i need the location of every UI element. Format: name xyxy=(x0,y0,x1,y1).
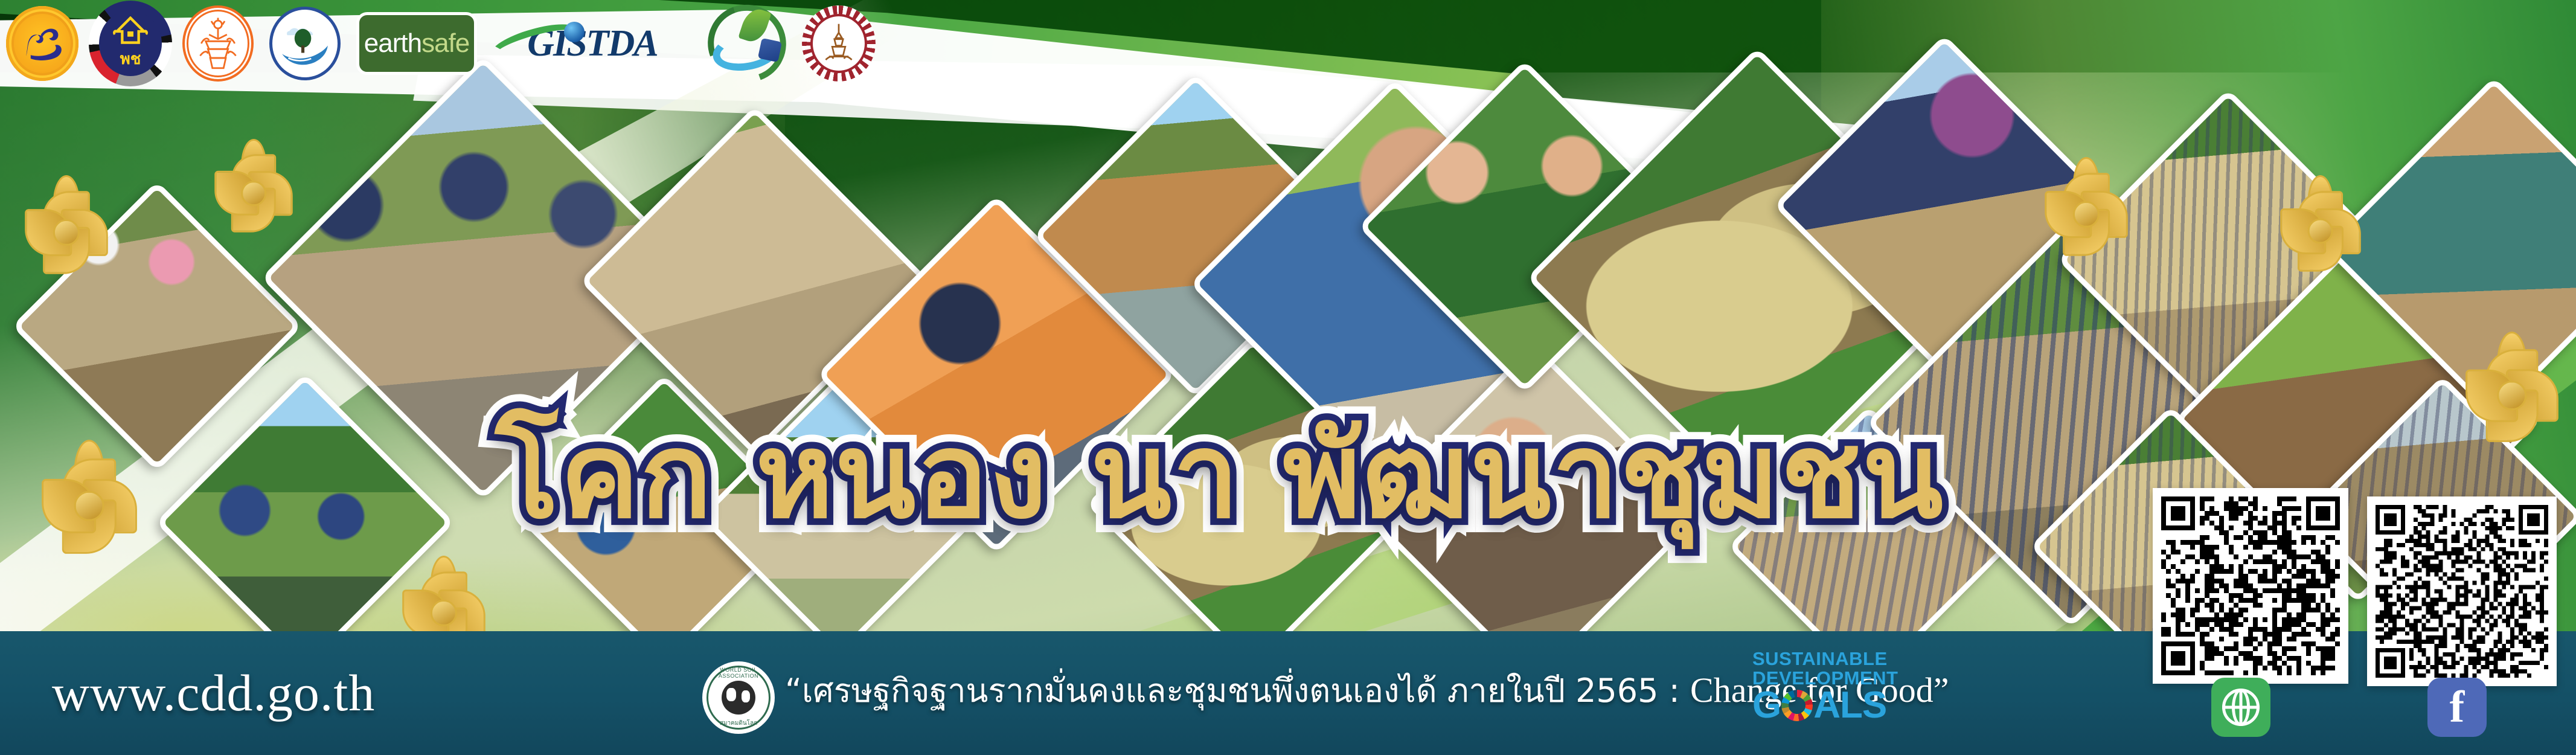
stupa-icon xyxy=(822,22,856,65)
cdd-khok-nong-na-banner: พช xyxy=(0,0,2576,755)
globe-icon[interactable] xyxy=(2211,678,2270,737)
royal-crest-seal xyxy=(182,5,254,82)
sdg-letters-als: ALS xyxy=(1813,687,1886,724)
gistda-logo: GISTDA xyxy=(493,8,692,79)
thai-ornament-icon-5 xyxy=(2035,163,2138,266)
leaf-water-seal xyxy=(708,5,786,82)
qr-code-website[interactable] xyxy=(2153,488,2348,684)
earthsafe-label-earth: earth xyxy=(364,28,421,59)
wsa-globe-icon xyxy=(722,681,755,715)
thai-pavilion-icon xyxy=(112,16,149,47)
sustainable-development-goals-logo: SUSTAINABLE DEVELOPMENT G ALS xyxy=(1752,649,1898,724)
cdd-seal: พช xyxy=(94,6,167,81)
thai-ornament-icon-7 xyxy=(2455,338,2569,453)
earthsafe-label-safe: safe xyxy=(421,28,469,59)
facebook-icon-letter: f xyxy=(2450,685,2465,730)
thai-ornament-icon-1 xyxy=(15,181,118,284)
royal-crest-icon xyxy=(196,15,240,72)
sdg-color-wheel-icon xyxy=(1781,690,1813,721)
page-title: โคก หนอง นา พัฒนาชุมชน โคก หนอง นา พัฒนา… xyxy=(495,417,1944,535)
thai-ornament-icon-2 xyxy=(205,145,302,242)
singha-lion-icon xyxy=(13,14,71,72)
partner-logo-row: พช xyxy=(6,5,876,82)
thai-ornament-icon-3 xyxy=(30,447,148,565)
facebook-icon[interactable]: f xyxy=(2427,678,2487,737)
thai-ornament-icon-6 xyxy=(2270,181,2370,281)
website-url[interactable]: www.cdd.go.th xyxy=(52,663,375,723)
footer-tagline-thai: “เศรษฐกิจฐานรากมั่นคงและชุมชนพึ่งตนเองได… xyxy=(785,672,1680,710)
wsa-bottom-text: สมาคมดินโลก xyxy=(702,719,775,728)
tree-and-water-icon xyxy=(279,18,331,69)
gistda-globe-icon xyxy=(564,22,585,42)
sdg-letter-g: G xyxy=(1752,687,1781,724)
earthsafe-logo: earthsafe xyxy=(356,12,477,75)
sdg-line-3: G ALS xyxy=(1752,687,1898,724)
agri-nature-foundation-seal xyxy=(269,7,341,80)
qr-code-facebook[interactable] xyxy=(2367,496,2557,686)
page-title-text: โคก หนอง นา พัฒนาชุมชน xyxy=(495,407,1944,545)
world-soil-association-seal: WORLD SOIL ASSOCIATION สมาคมดินโลก xyxy=(702,661,775,734)
wsa-top-text: WORLD SOIL ASSOCIATION xyxy=(702,667,775,679)
ministry-of-interior-seal xyxy=(6,6,78,81)
engineering-alumni-seal xyxy=(802,5,876,82)
sdg-line-1: SUSTAINABLE xyxy=(1752,649,1898,669)
cdd-seal-label: พช xyxy=(120,47,141,71)
